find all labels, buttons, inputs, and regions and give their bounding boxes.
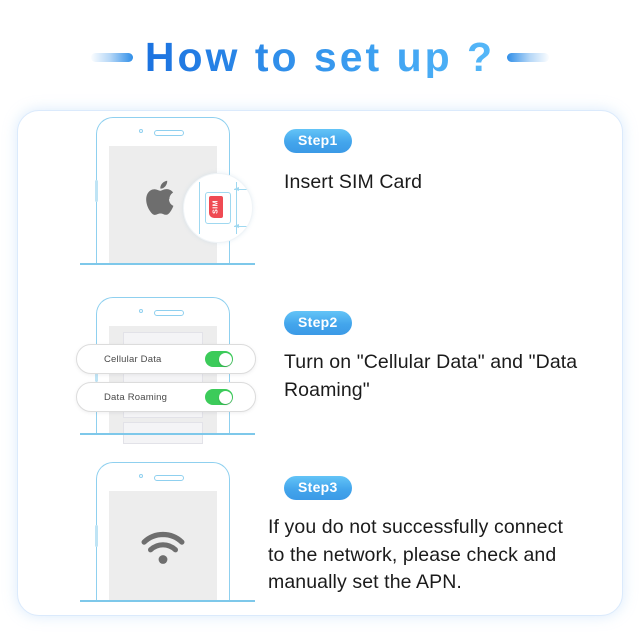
page-title: How to set up ? [145,37,495,78]
insert-arrow-bottom-icon [234,226,250,227]
step-1-badge: Step1 [284,129,352,153]
step-2-copy: Step2 Turn on "Cellular Data" and "Data … [256,291,606,451]
step-2-illustration: Cellular Data Data Roaming [80,291,255,451]
sim-tray-magnifier: SIM [183,173,253,243]
ground-line [80,263,255,265]
toggle-knob [219,353,232,366]
front-camera-icon [139,309,143,313]
step-2-description: Turn on "Cellular Data" and "Data Roamin… [284,349,614,404]
phone-outline [96,462,230,602]
step-2-description-line-1: Turn on "Cellular Data" and [284,351,523,373]
tray-rail-left [199,182,200,234]
step-2-badge-wrap: Step2 [284,311,352,335]
front-camera-icon [139,474,143,478]
earpiece-speaker-icon [154,310,184,316]
step-1: SIM Step1 Insert SIM Card [18,111,624,283]
toggle-cellular-data[interactable] [205,351,233,367]
step-3-description-line-2: to the network, please check and [268,542,612,570]
decorative-dash-left-icon [91,53,133,62]
phone-screen [109,326,217,435]
step-3-description-line-3: manually set the APN. [268,569,612,597]
step-3-description-line-1: If you do not successfully connect [268,514,612,542]
ground-line [80,600,255,602]
decorative-dash-right-icon [507,53,549,62]
apple-logo-icon [146,178,180,218]
step-1-illustration: SIM [80,111,255,283]
steps-card: SIM Step1 Insert SIM Card [17,110,623,616]
step-1-copy: Step1 Insert SIM Card [256,111,606,283]
page-header: How to set up ? [0,28,640,86]
step-3-copy: Step3 If you do not successfully connect… [256,456,606,616]
wifi-icon [139,528,187,566]
ground-line [80,433,255,435]
toggle-data-roaming[interactable] [205,389,233,405]
volume-button-icon [95,525,98,547]
phone-screen [109,491,217,602]
insert-arrow-top-icon [234,189,250,190]
step-3: Step3 If you do not successfully connect… [18,456,624,616]
earpiece-speaker-icon [154,475,184,481]
sim-card-icon: SIM [209,196,223,218]
callout-cellular-data[interactable]: Cellular Data [76,344,256,374]
earpiece-speaker-icon [154,130,184,136]
toggle-knob [219,391,232,404]
volume-button-icon [95,180,98,202]
step-1-badge-wrap: Step1 [284,129,352,153]
step-2-badge: Step2 [284,311,352,335]
step-3-description: If you do not successfully connect to th… [268,514,612,597]
step-2: Cellular Data Data Roaming Step2 Turn on… [18,291,624,451]
step-3-badge: Step3 [284,476,352,500]
step-1-description: Insert SIM Card [284,169,614,197]
step-3-badge-wrap: Step3 [284,476,352,500]
front-camera-icon [139,129,143,133]
callout-label-data-roaming: Data Roaming [104,392,167,403]
step-3-illustration [80,456,255,616]
callout-data-roaming[interactable]: Data Roaming [76,382,256,412]
callout-label-cellular-data: Cellular Data [104,354,162,365]
